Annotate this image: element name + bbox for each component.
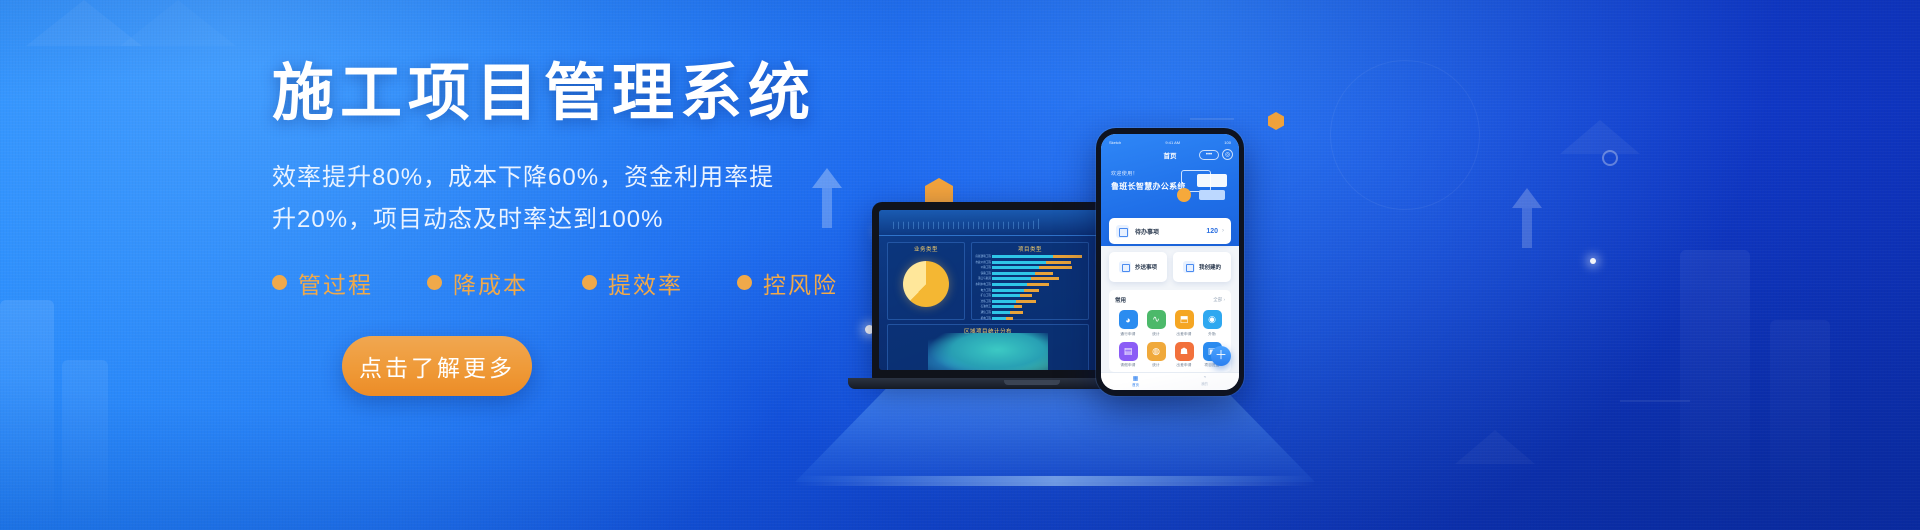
bar-segment-amount — [1010, 311, 1024, 314]
app-grid: ◕ 通行申请 ∿ 统计 ⬒ 出差申请 ◉ 外勤 — [1115, 310, 1225, 368]
pillar-deco-3 — [1680, 250, 1750, 530]
bar-segment-amount — [1016, 300, 1036, 303]
bar-segment-count — [992, 305, 1014, 308]
bullet-icon — [427, 275, 442, 290]
bar-row: 公路工程 — [992, 266, 1082, 269]
section-header: 常用 全部 › — [1115, 296, 1225, 304]
bar-segment-count — [992, 300, 1016, 303]
illustration-card-2 — [1197, 174, 1227, 187]
bar-segment-count — [992, 255, 1053, 258]
quick-action-row: 抄送事项 我创建的 — [1109, 252, 1231, 282]
app-item-1[interactable]: ∿ 统计 — [1143, 310, 1169, 337]
add-button[interactable]: ＋ — [1211, 346, 1231, 366]
app-label: 统计 — [1143, 363, 1169, 368]
phone-nav-buttons: ••• ◎ — [1199, 149, 1233, 160]
phone-status-bar: Sketch 9:41 AM 100 — [1101, 138, 1239, 147]
panel-title: 项目类型 — [972, 245, 1088, 253]
bar-segment-count — [992, 261, 1046, 264]
bar-segment-count — [992, 272, 1035, 275]
bar-segment-amount — [1024, 289, 1039, 292]
chevron-deco-2 — [120, 0, 236, 46]
illustration-card-3 — [1199, 190, 1225, 200]
hero-illustration — [1179, 166, 1231, 206]
triangle-deco-2 — [1455, 430, 1535, 464]
phone-screen: Sketch 9:41 AM 100 首页 ••• ◎ 欢迎使用！ 鲁班长智慧办… — [1101, 134, 1239, 390]
panel-business-type: 业务类型 — [887, 242, 965, 320]
chevron-right-icon: › — [1222, 228, 1224, 234]
bar-row-label: 石油化工 — [973, 304, 991, 308]
document-icon — [1116, 225, 1129, 238]
bar-row: 房屋建筑工程 — [992, 255, 1082, 258]
bar-segment-amount — [1014, 305, 1023, 308]
panel-region-map: 区域项目统计分布 — [887, 324, 1089, 370]
bar-row-label: 水利水电工程 — [973, 282, 991, 286]
triangle-deco-1 — [1560, 120, 1640, 154]
bar-segment-count — [992, 289, 1024, 292]
chevron-deco-1 — [26, 0, 142, 46]
plus-doc-icon — [1183, 261, 1195, 273]
feature-item-1: 降成本 — [427, 266, 528, 300]
phone-mockup: Sketch 9:41 AM 100 首页 ••• ◎ 欢迎使用！ 鲁班长智慧办… — [1096, 128, 1244, 396]
china-map-graphic — [928, 333, 1048, 370]
feature-label: 降成本 — [453, 266, 528, 300]
bar-row: 电力工程 — [992, 289, 1082, 292]
feature-item-0: 管过程 — [272, 266, 373, 300]
quick-action-cc[interactable]: 抄送事项 — [1109, 252, 1167, 282]
send-icon — [1119, 261, 1131, 273]
bar-row: 机电工程 — [992, 317, 1082, 320]
status-time: 9:41 AM — [1165, 140, 1180, 145]
bar-segment-amount — [1046, 261, 1071, 264]
bar-row-label: 市政公用工程 — [973, 260, 991, 264]
podium-plate — [795, 386, 1315, 482]
bar-segment-count — [992, 317, 1006, 320]
app-item-2[interactable]: ⬒ 出差申请 — [1171, 310, 1197, 337]
bar-row-label: 电力工程 — [973, 288, 991, 292]
app-item-0[interactable]: ◕ 通行申请 — [1115, 310, 1141, 337]
welcome-large-text: 鲁班长智慧办公系统 — [1111, 181, 1186, 192]
app-icon: ▤ — [1119, 342, 1138, 361]
bar-row: 石油化工 — [992, 305, 1082, 308]
bar-segment-amount — [1053, 255, 1082, 258]
app-label: 出差申请 — [1171, 332, 1197, 337]
app-icon: ◍ — [1147, 342, 1166, 361]
learn-more-button[interactable]: 点击了解更多 — [342, 336, 532, 396]
bar-row-label: 公路工程 — [973, 265, 991, 269]
quick-action-label: 我创建的 — [1199, 263, 1221, 271]
bar-row-label: 房屋建筑工程 — [973, 254, 991, 258]
bar-row: 港口与航道 — [992, 277, 1082, 280]
home-icon: ▦ — [1101, 375, 1170, 382]
feature-item-2: 提效率 — [582, 266, 683, 300]
status-battery: 100 — [1224, 140, 1231, 145]
bar-segment-count — [992, 277, 1031, 280]
tab-label: 首页 — [1101, 382, 1170, 387]
bar-row-label: 通信工程 — [973, 310, 991, 314]
bar-row: 通信工程 — [992, 311, 1082, 314]
bar-row-label: 机电工程 — [973, 316, 991, 320]
pillar-deco-2 — [62, 360, 108, 530]
app-icon: ⬒ — [1175, 310, 1194, 329]
app-label: 统计 — [1143, 332, 1169, 337]
bar-row: 矿山工程 — [992, 294, 1082, 297]
line-deco-2 — [1620, 400, 1690, 402]
bullet-icon — [737, 275, 752, 290]
quick-action-created[interactable]: 我创建的 — [1173, 252, 1231, 282]
app-icon: ☗ — [1175, 342, 1194, 361]
bar-segment-amount — [1031, 277, 1058, 280]
feature-label: 提效率 — [608, 266, 683, 300]
todo-label: 待办事项 — [1135, 227, 1206, 236]
app-icon: ◕ — [1119, 310, 1138, 329]
app-icon: ◉ — [1203, 310, 1222, 329]
pillar-deco-1 — [0, 300, 54, 530]
horizontal-bar-chart: 房屋建筑工程市政公用工程公路工程铁路工程港口与航道水利水电工程电力工程矿山工程冶… — [992, 255, 1082, 307]
more-icon[interactable]: ••• — [1199, 150, 1219, 160]
app-label: 出差申请 — [1171, 363, 1197, 368]
status-carrier: Sketch — [1109, 140, 1121, 145]
bar-segment-count — [992, 294, 1020, 297]
arrow-up-icon-2 — [1512, 188, 1542, 248]
app-icon: ∿ — [1147, 310, 1166, 329]
bar-segment-amount — [1035, 272, 1053, 275]
bar-segment-amount — [1039, 266, 1072, 269]
pie-chart — [903, 261, 949, 307]
app-label: 请假申请 — [1115, 363, 1141, 368]
app-item-5[interactable]: ◍ 统计 — [1143, 342, 1169, 369]
app-item-4[interactable]: ▤ 请假申请 — [1115, 342, 1141, 369]
ring-deco-2 — [1330, 60, 1480, 210]
bar-segment-count — [992, 311, 1010, 314]
bar-row-label: 矿山工程 — [973, 293, 991, 297]
illustration-badge — [1177, 188, 1191, 202]
target-icon[interactable]: ◎ — [1222, 149, 1233, 160]
bar-row-label: 冶炼工程 — [973, 299, 991, 303]
tab-home[interactable]: ▦ 首页 — [1101, 373, 1170, 390]
bar-segment-amount — [1027, 283, 1049, 286]
app-label: 通行申请 — [1115, 332, 1141, 337]
device-mockup-group: 市场管理报表 业务类型 项目类型 房屋建筑工程市政公用工程公路工程铁路工程港口与… — [790, 96, 1350, 496]
glow-dot-3 — [1590, 258, 1596, 264]
ring-deco-1 — [1602, 150, 1618, 166]
panel-project-type: 项目类型 房屋建筑工程市政公用工程公路工程铁路工程港口与航道水利水电工程电力工程… — [971, 242, 1089, 320]
section-title: 常用 — [1115, 296, 1126, 304]
app-label: 外勤 — [1199, 332, 1225, 337]
bar-row: 冶炼工程 — [992, 300, 1082, 303]
bar-segment-count — [992, 266, 1039, 269]
pillar-deco-4 — [1770, 320, 1830, 530]
bullet-icon — [272, 275, 287, 290]
bar-row: 水利水电工程 — [992, 283, 1082, 286]
bar-row: 铁路工程 — [992, 272, 1082, 275]
todo-count: 120 — [1206, 228, 1218, 235]
promo-banner: 施工项目管理系统 效率提升80%，成本下降60%，资金利用率提升20%，项目动态… — [0, 0, 1920, 530]
todo-card[interactable]: 待办事项 120 › — [1109, 218, 1231, 244]
subtitle-text: 效率提升80%，成本下降60%，资金利用率提升20%，项目动态及时率达到100% — [272, 157, 792, 240]
bar-segment-count — [992, 283, 1027, 286]
bar-segment-amount — [1020, 294, 1032, 297]
app-item-3[interactable]: ◉ 外勤 — [1199, 310, 1225, 337]
welcome-small-text: 欢迎使用！ — [1111, 170, 1186, 177]
bar-row: 市政公用工程 — [992, 261, 1082, 264]
tab-profile[interactable]: ◔ 我的 — [1170, 373, 1239, 390]
panel-title: 业务类型 — [888, 245, 964, 253]
app-item-6[interactable]: ☗ 出差申请 — [1171, 342, 1197, 369]
podium-edge — [795, 476, 1315, 486]
phone-tab-bar: ▦ 首页 ◔ 我的 — [1101, 372, 1239, 390]
laptop-notch — [1004, 380, 1060, 385]
phone-welcome-block: 欢迎使用！ 鲁班长智慧办公系统 — [1111, 170, 1186, 192]
section-view-all[interactable]: 全部 › — [1213, 297, 1225, 303]
bullet-icon — [582, 275, 597, 290]
feature-label: 管过程 — [298, 266, 373, 300]
bar-row-label: 港口与航道 — [973, 276, 991, 280]
tab-label: 我的 — [1170, 381, 1239, 386]
bar-row-label: 铁路工程 — [973, 271, 991, 275]
bar-segment-amount — [1006, 317, 1013, 320]
quick-action-label: 抄送事项 — [1135, 263, 1157, 271]
